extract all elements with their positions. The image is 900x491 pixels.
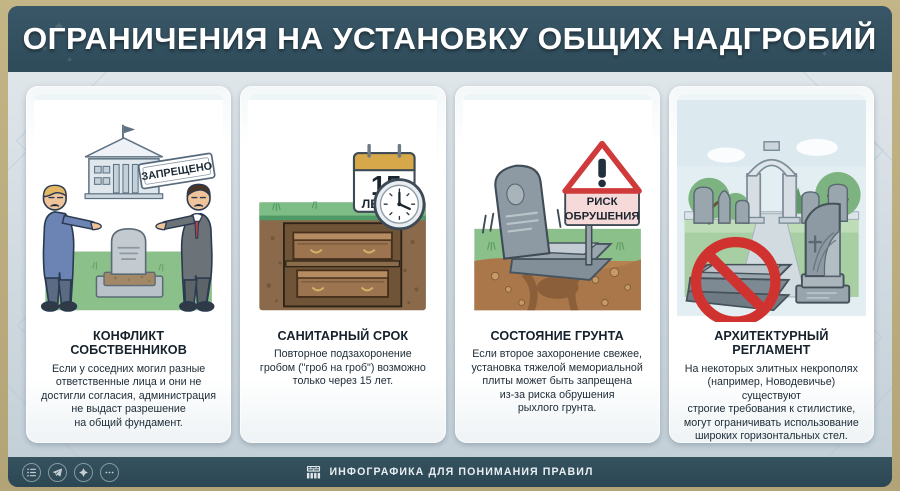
- illustration-two-men-arguing-over-grave: ЗАПРЕЩЕНО: [34, 94, 223, 322]
- infographic-chart-icon: [306, 465, 321, 480]
- card-sanitary-term[interactable]: 15 ЛЕТ: [240, 86, 445, 443]
- poster-inner-frame: ОГРАНИЧЕНИЯ НА УСТАНОВКУ ОБЩИХ НАДГРОБИЙ: [8, 6, 892, 487]
- card-text: Повторное подзахоронение гробом ("гроб н…: [248, 348, 437, 388]
- card-architectural-rules[interactable]: АРХИТЕКТУРНЫЙ РЕГЛАМЕНТ На некоторых эли…: [669, 86, 874, 443]
- telegram-icon[interactable]: [48, 463, 67, 482]
- poster-footer: ИНФОГРАФИКА ДЛЯ ПОНИМАНИЯ ПРАВИЛ: [8, 457, 892, 487]
- card-owner-conflict[interactable]: ЗАПРЕЩЕНО: [26, 86, 231, 443]
- infographic-poster: ОГРАНИЧЕНИЯ НА УСТАНОВКУ ОБЩИХ НАДГРОБИЙ: [0, 0, 900, 491]
- coffin-upper: [294, 233, 392, 259]
- card-title: КОНФЛИКТ СОБСТВЕННИКОВ: [34, 329, 223, 358]
- poster-body: ЗАПРЕЩЕНО: [8, 72, 892, 457]
- wall-clock-icon: [375, 180, 424, 229]
- svg-text:ОБРУШЕНИЯ: ОБРУШЕНИЯ: [564, 210, 639, 222]
- cards-row: ЗАПРЕЩЕНО: [8, 72, 892, 457]
- card-title: САНИТАРНЫЙ СРОК: [248, 329, 437, 343]
- social-links: [22, 463, 119, 482]
- illustration-elite-cemetery: [677, 94, 866, 322]
- card-soil-condition[interactable]: РИСК ОБРУШЕНИЯ СОСТОЯНИЕ ГРУНТА Ес: [455, 86, 660, 443]
- card-text: На некоторых элитных некрополях (наприме…: [677, 363, 866, 443]
- poster-header: ОГРАНИЧЕНИЯ НА УСТАНОВКУ ОБЩИХ НАДГРОБИЙ: [8, 6, 892, 72]
- illustration-stacked-coffins-underground: 15 ЛЕТ: [248, 94, 437, 322]
- coffin-lower: [297, 270, 388, 296]
- card-text: Если у соседних могил разные ответственн…: [34, 363, 223, 430]
- ellipsis-icon[interactable]: [100, 463, 119, 482]
- diamond-icon[interactable]: [74, 463, 93, 482]
- card-title: СОСТОЯНИЕ ГРУНТА: [463, 329, 652, 343]
- card-text: Если второе захоронение свежее, установк…: [463, 348, 652, 415]
- footer-caption-group: ИНФОГРАФИКА ДЛЯ ПОНИМАНИЯ ПРАВИЛ: [8, 465, 892, 480]
- page-title: ОГРАНИЧЕНИЯ НА УСТАНОВКУ ОБЩИХ НАДГРОБИЙ: [23, 21, 877, 57]
- illustration-sinking-tombstone: РИСК ОБРУШЕНИЯ: [463, 94, 652, 322]
- card-title: АРХИТЕКТУРНЫЙ РЕГЛАМЕНТ: [677, 329, 866, 358]
- footer-caption: ИНФОГРАФИКА ДЛЯ ПОНИМАНИЯ ПРАВИЛ: [329, 466, 593, 478]
- svg-text:РИСК: РИСК: [586, 196, 617, 208]
- list-icon[interactable]: [22, 463, 41, 482]
